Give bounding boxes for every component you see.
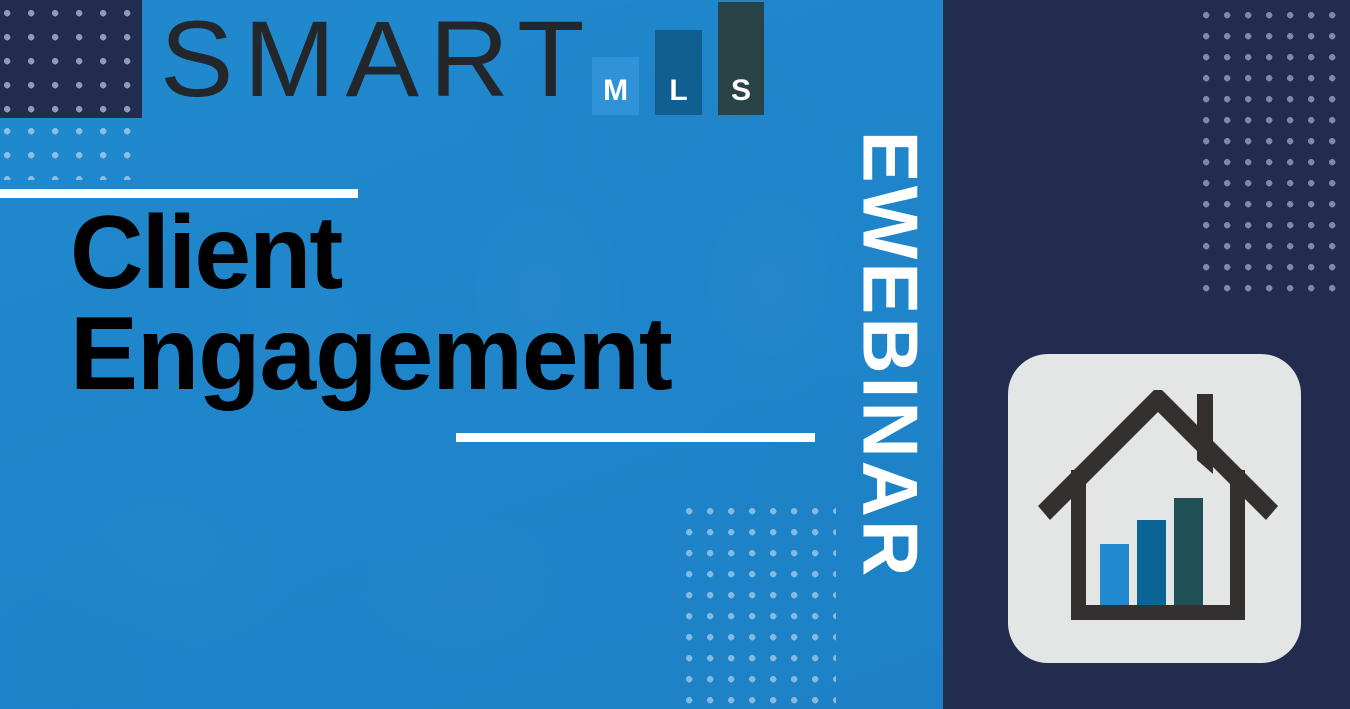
logo-bar-s: S [718,2,764,115]
blue-hero-panel: SMART M L S Client Engagement [0,0,943,709]
app-icon-tile [1008,354,1301,663]
webinar-promo-banner: SMART M L S Client Engagement EWEBINAR [0,0,1350,709]
logo-bar-l-letter: L [669,76,687,115]
logo-bar-m-letter: M [603,76,628,115]
icon-bar-3 [1174,498,1203,605]
logo-bar-s-letter: S [731,76,751,115]
icon-bar-1 [1100,544,1129,605]
logo-bar-m: M [592,57,639,115]
dot-grid-top-left-light [0,118,142,180]
rule-below-title [456,433,815,442]
icon-bar-2 [1137,520,1166,605]
logo-bar-l: L [655,30,702,115]
format-label-strip: EWEBINAR [838,0,943,709]
dot-grid-bottom-center [686,498,836,709]
format-label-text: EWEBINAR [852,130,930,579]
page-title: Client Engagement [70,203,854,405]
house-bar-chart-icon [1008,354,1301,663]
page-title-line-2: Engagement [70,304,854,405]
dot-grid-top-left-dark [0,0,142,118]
dot-grid-top-right [1203,6,1337,302]
smart-mls-logo: SMART M L S [160,7,764,117]
logo-bar-chart-mark: M L S [592,2,764,115]
logo-wordmark: SMART [160,5,595,113]
page-title-line-1: Client [70,203,854,304]
